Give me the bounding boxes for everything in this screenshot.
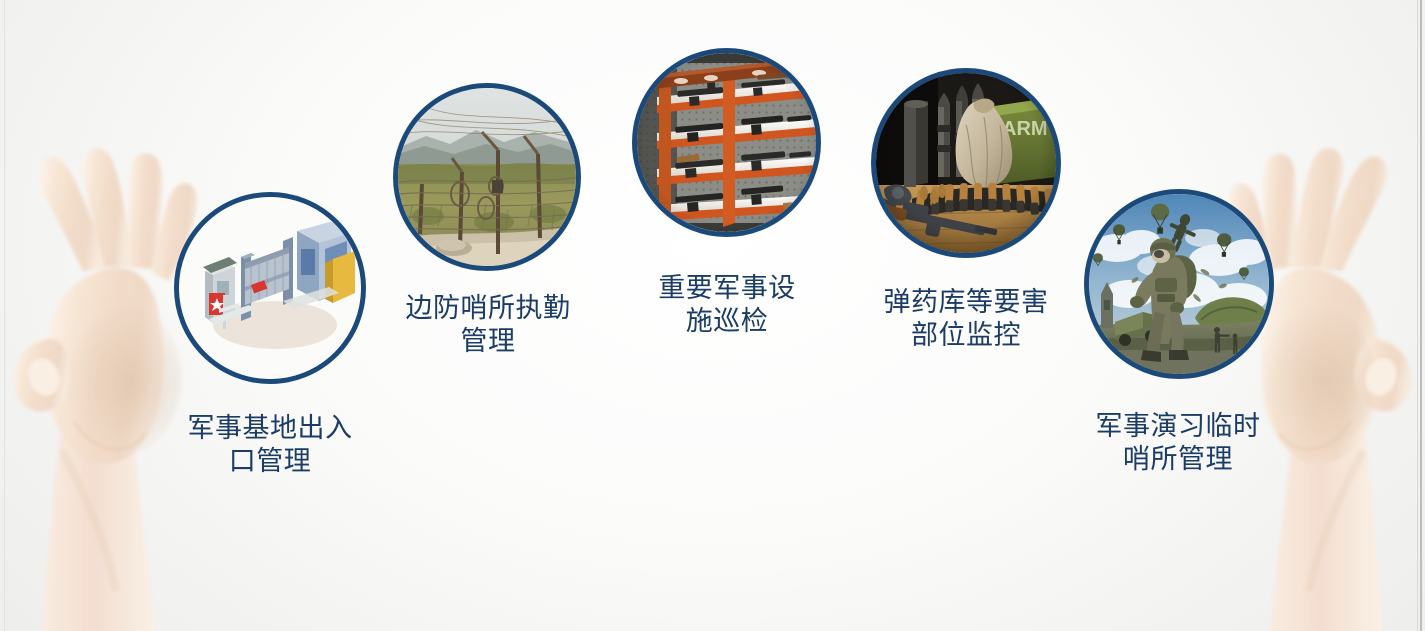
slide-canvas: 军事基地出入 口管理 [0, 0, 1425, 631]
left-hand-illustration [0, 121, 243, 631]
scenario-caption-1: 军事基地出入 口管理 [160, 412, 380, 478]
scenario-caption-5: 军事演习临时 哨所管理 [1068, 410, 1288, 476]
border-fence-photo [398, 88, 576, 266]
scenario-caption-4: 弹药库等要害 部位监控 [856, 286, 1076, 352]
paratrooper-exercise-photo [1089, 194, 1269, 374]
scenario-circle-5[interactable] [1084, 189, 1274, 379]
scenario-circle-4[interactable]: ARM [871, 68, 1061, 258]
weapons-rack-photo [637, 53, 816, 232]
scenario-circle-2[interactable] [393, 83, 581, 271]
scenario-circle-1[interactable] [174, 192, 366, 384]
scenario-caption-2: 边防哨所执勤 管理 [378, 292, 598, 358]
ammunition-depot-photo: ARM [876, 73, 1056, 253]
scenario-caption-3: 重要军事设 施巡检 [617, 272, 837, 338]
scenario-circle-3[interactable] [632, 48, 821, 237]
military-base-gate-illustration [179, 197, 361, 379]
